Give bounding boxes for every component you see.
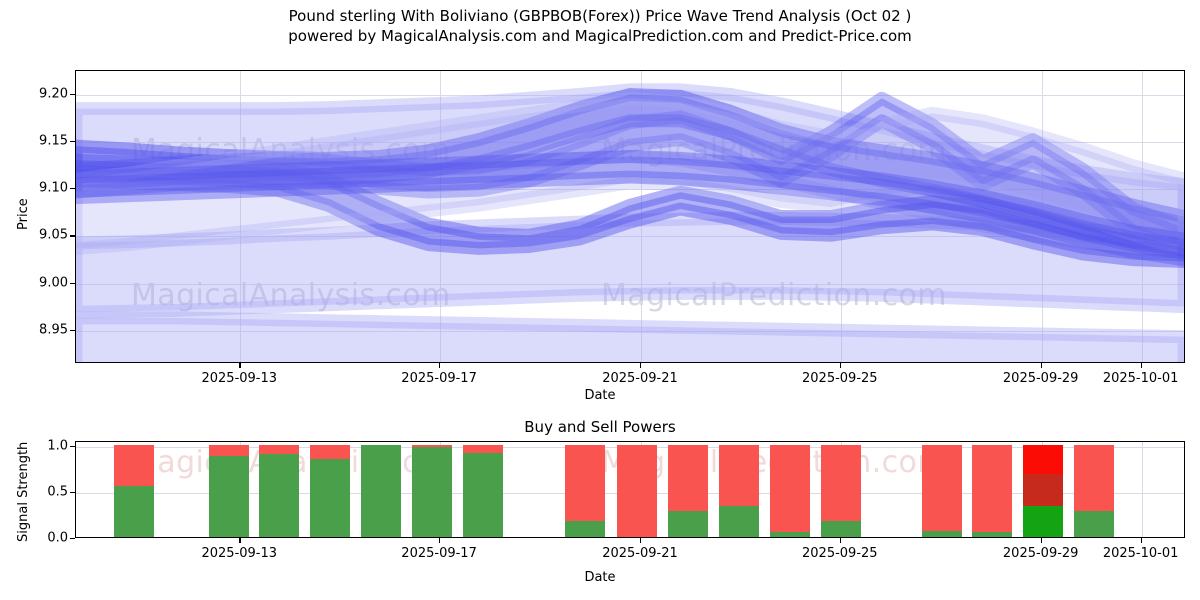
buy-power-segment: [209, 456, 249, 537]
price-xtick-label: 2025-09-25: [802, 371, 878, 386]
sell-power-segment: [412, 445, 452, 448]
buy-sell-plot-area: MagicalAnalysis.com MagicalPrediction.co…: [75, 441, 1185, 538]
price-xtick-mark: [840, 363, 841, 368]
bar-2025-09-15: [209, 442, 249, 537]
power-xtick-label: 2025-09-17: [401, 546, 477, 561]
buy-power-segment: [972, 532, 1012, 537]
bar-2025-09-11: [114, 442, 154, 537]
buy-power-segment: [821, 521, 861, 537]
price-ytick-label: 9.20: [20, 86, 68, 101]
power-xtick-mark: [1041, 538, 1042, 543]
sell-power-segment: [668, 445, 708, 512]
power-xtick-label: 2025-09-29: [1003, 546, 1079, 561]
buy-power-segment: [719, 506, 759, 537]
buy-power-segment: [114, 486, 154, 537]
price-xtick-mark: [1141, 363, 1142, 368]
sell-power-segment: [1074, 445, 1114, 512]
sell-power-segment-dark: [1023, 474, 1063, 506]
bar-2025-09-23: [565, 442, 605, 537]
price-ytick-label: 9.10: [20, 181, 68, 196]
buy-sell-bars: [76, 442, 1184, 537]
power-xtick-label: 2025-09-21: [602, 546, 678, 561]
price-xtick-mark: [640, 363, 641, 368]
power-xtick-label: 2025-09-25: [802, 546, 878, 561]
buy-power-segment: [463, 453, 503, 537]
power-y-axis-label: Signal Strength: [16, 442, 31, 542]
bar-2025-09-24: [617, 442, 657, 537]
bar-2025-10-06: [1074, 442, 1114, 537]
band-lower-wide: [76, 318, 1184, 362]
buy-power-segment: [412, 447, 452, 537]
power-xtick-mark: [640, 538, 641, 543]
bar-2025-09-16: [259, 442, 299, 537]
sell-power-segment: [463, 445, 503, 453]
power-xtick-mark: [840, 538, 841, 543]
power-ytick-mark: [70, 538, 75, 539]
bar-2025-09-30: [821, 442, 861, 537]
sell-power-segment: [565, 445, 605, 522]
power-xtick-mark: [439, 538, 440, 543]
price-ytick-label: 8.95: [20, 322, 68, 337]
sell-power-segment: [972, 445, 1012, 533]
buy-power-segment: [361, 445, 401, 537]
price-plot-area: MagicalAnalysis.com MagicalPrediction.co…: [75, 70, 1185, 363]
buy-power-segment: [259, 454, 299, 537]
buy-power-segment: [922, 531, 962, 537]
sell-power-segment: [770, 445, 810, 533]
sell-power-segment: [209, 445, 249, 456]
price-xtick-mark: [1041, 363, 1042, 368]
buy-power-segment: [668, 511, 708, 537]
power-xtick-label: 2025-09-13: [201, 546, 277, 561]
price-xtick-label: 2025-09-29: [1003, 371, 1079, 386]
bar-2025-09-29: [770, 442, 810, 537]
sell-power-segment: [617, 445, 657, 537]
bar-2025-09-18: [361, 442, 401, 537]
power-xtick-mark: [239, 538, 240, 543]
price-xtick-label: 2025-10-01: [1103, 371, 1179, 386]
buy-power-segment: [770, 532, 810, 537]
price-xtick-label: 2025-09-21: [602, 371, 678, 386]
price-ytick-label: 9.05: [20, 228, 68, 243]
bar-2025-10-02: [972, 442, 1012, 537]
price-wave-bands: [76, 71, 1184, 362]
sell-power-segment: [719, 445, 759, 506]
power-xtick-mark: [1141, 538, 1142, 543]
sell-power-segment: [114, 445, 154, 487]
power-xtick-label: 2025-10-01: [1103, 546, 1179, 561]
price-wave-panel: 9.209.159.109.059.008.95 2025-09-132025-…: [0, 0, 1200, 400]
price-y-axis-label: Price: [16, 198, 31, 230]
buy-power-segment: [1074, 511, 1114, 537]
price-xtick-mark: [239, 363, 240, 368]
bar-2025-10-01: [922, 442, 962, 537]
buy-power-segment: [310, 459, 350, 537]
price-ytick-label: 9.00: [20, 275, 68, 290]
buy-power-segment: [1023, 506, 1063, 537]
bar-2025-09-17: [310, 442, 350, 537]
buy-sell-powers-panel: Buy and Sell Powers 0.00.51.0 2025-09-13…: [0, 400, 1200, 600]
bar-2025-09-25: [668, 442, 708, 537]
price-xtick-label: 2025-09-17: [401, 371, 477, 386]
bar-2025-09-26: [719, 442, 759, 537]
bar-2025-09-22: [463, 442, 503, 537]
price-xtick-label: 2025-09-13: [201, 371, 277, 386]
price-xtick-mark: [439, 363, 440, 368]
sell-power-segment: [1023, 445, 1063, 474]
sell-power-segment: [310, 445, 350, 460]
buy-sell-panel-title: Buy and Sell Powers: [0, 418, 1200, 436]
price-ytick-label: 9.15: [20, 133, 68, 148]
sell-power-segment: [821, 445, 861, 522]
buy-power-segment: [565, 521, 605, 537]
power-x-axis-label: Date: [0, 570, 1200, 585]
bar-2025-10-03: [1023, 442, 1063, 537]
bar-2025-09-19: [412, 442, 452, 537]
sell-power-segment: [259, 445, 299, 454]
sell-power-segment: [922, 445, 962, 532]
